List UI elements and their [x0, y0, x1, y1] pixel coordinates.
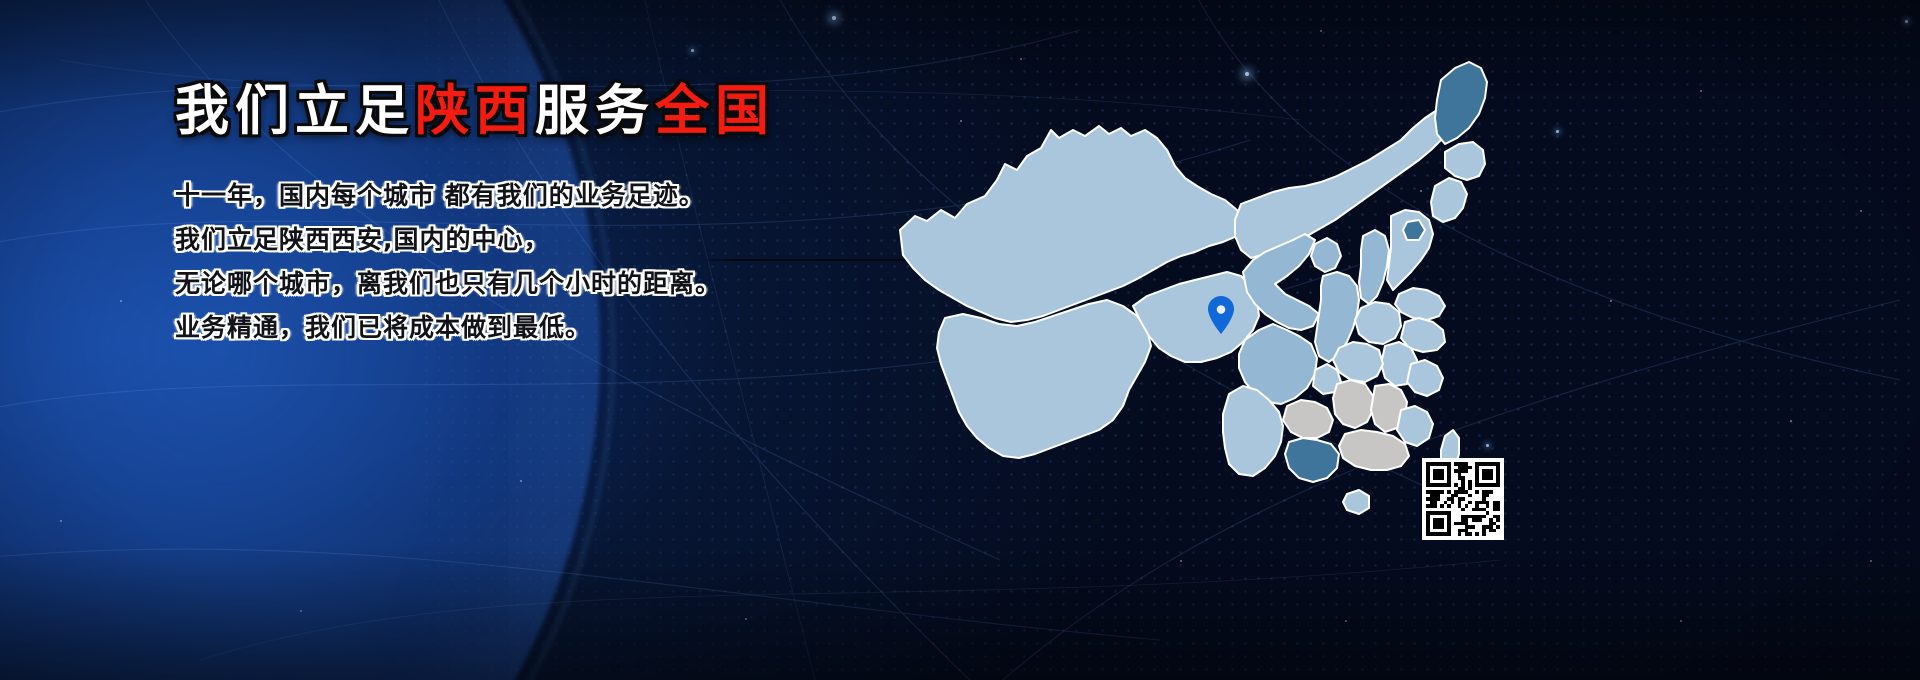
province-ningxia [1311, 238, 1341, 272]
headline-part-2-highlight: 陕西 [415, 79, 535, 142]
province-guangxi [1285, 438, 1339, 482]
province-hainan [1343, 490, 1369, 514]
province-tibet [937, 300, 1151, 458]
province-liaoning [1431, 178, 1467, 222]
description-line: 无论哪个城市，离我们也只有几个小时的距离。 [175, 262, 875, 306]
headline-part-3: 服务 [535, 79, 655, 142]
province-hunan [1333, 380, 1373, 428]
province-beijing [1403, 220, 1425, 240]
province-guangdong [1339, 430, 1409, 470]
description-line: 我们立足陕西西安,国内的中心， [175, 218, 875, 262]
headline-part-4-highlight: 全国 [655, 79, 775, 142]
china-map [845, 18, 1485, 548]
description-line: 业务精通，我们已将成本做到最低。 [175, 306, 875, 350]
province-heilongjiang [1435, 62, 1487, 144]
province-fujian [1397, 406, 1433, 446]
china-map-svg [845, 18, 1485, 548]
hero-banner: 我们立足陕西服务全国 十一年，国内每个城市 都有我们的业务足迹。 我们立足陕西西… [0, 0, 1920, 680]
description-line: 十一年，国内每个城市 都有我们的业务足迹。 [175, 174, 875, 218]
province-zhejiang [1407, 360, 1443, 396]
province-hubei [1333, 342, 1383, 382]
page-title: 我们立足陕西服务全国 [175, 82, 875, 140]
qr-code-grid [1426, 462, 1500, 536]
banner-copy: 我们立足陕西服务全国 十一年，国内每个城市 都有我们的业务足迹。 我们立足陕西西… [175, 82, 875, 350]
province-guizhou [1283, 400, 1333, 438]
banner-description: 十一年，国内每个城市 都有我们的业务足迹。 我们立足陕西西安,国内的中心， 无论… [175, 174, 875, 350]
province-qinghai [1133, 272, 1259, 362]
province-shanxi [1359, 230, 1389, 304]
province-shandong [1395, 288, 1445, 320]
province-jilin [1445, 142, 1485, 180]
qr-code[interactable] [1422, 458, 1504, 540]
headline-part-1: 我们立足 [175, 79, 415, 142]
province-henan [1355, 302, 1401, 344]
